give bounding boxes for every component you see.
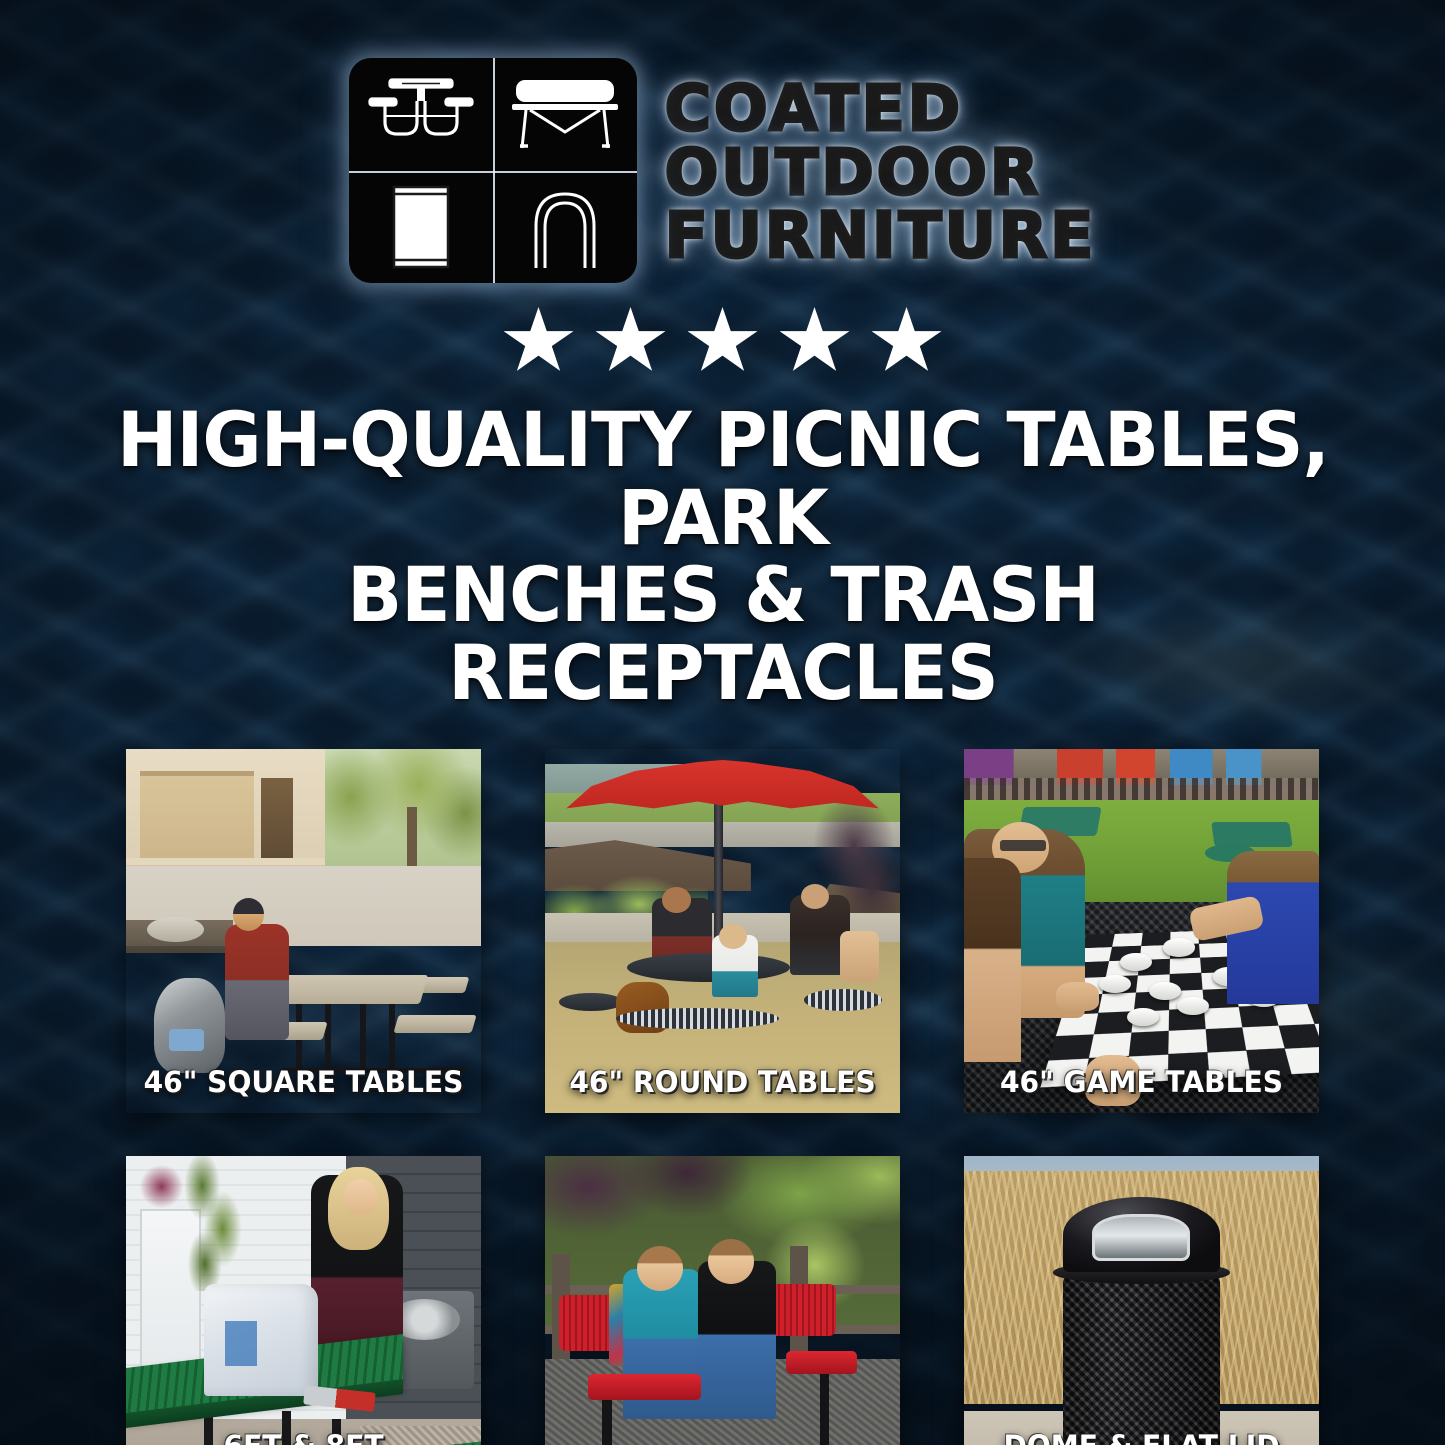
product-tile-square-tables[interactable]: 46" SQUARE TABLES [126, 749, 481, 1113]
trash-receptacle-icon [349, 171, 493, 284]
product-tile-trash-receptacles[interactable]: DOME & FLAT LID TRASH RECEPTACLES [964, 1156, 1319, 1445]
caption-line: DOME & FLAT LID [977, 1431, 1306, 1445]
park-bench-icon [493, 58, 637, 171]
product-tile-benches[interactable]: 6FT & 8FT BENCHES [545, 1156, 900, 1445]
product-photo-trash-receptacles [964, 1156, 1319, 1445]
star-icon [872, 307, 942, 375]
star-icon [504, 307, 574, 375]
product-caption-rectangular-tables: 6FT & 8FT RECTANGULAR TABLES [131, 1431, 475, 1445]
caption-line: 46" GAME TABLES [977, 1067, 1306, 1097]
star-icon [780, 307, 850, 375]
brand-wordmark: COATED OUTDOOR FURNITURE [665, 74, 1097, 267]
headline-line-1: HIGH-QUALITY PICNIC TABLES, PARK [110, 401, 1336, 556]
product-photo-round-tables [545, 749, 900, 1113]
picnic-table-icon [349, 58, 493, 171]
brand-lockup: COATED OUTDOOR FURNITURE [349, 58, 1097, 283]
poster-content: COATED OUTDOOR FURNITURE HIGH-QUALITY PI… [0, 0, 1445, 1445]
bike-rack-icon [493, 171, 637, 284]
product-photo-benches [545, 1156, 900, 1445]
product-tile-game-tables[interactable]: 46" GAME TABLES [964, 749, 1319, 1113]
product-photo-rectangular-tables [126, 1156, 481, 1445]
product-caption-square-tables: 46" SQUARE TABLES [131, 1067, 475, 1097]
headline-line-2: BENCHES & TRASH RECEPTACLES [110, 556, 1336, 711]
product-grid: 46" SQUARE TABLES [125, 749, 1321, 1445]
poster-canvas: COATED OUTDOOR FURNITURE HIGH-QUALITY PI… [0, 0, 1445, 1445]
product-photo-square-tables [126, 749, 481, 1113]
headline: HIGH-QUALITY PICNIC TABLES, PARK BENCHES… [110, 401, 1336, 711]
product-tile-round-tables[interactable]: 46" ROUND TABLES [545, 749, 900, 1113]
product-caption-trash-receptacles: DOME & FLAT LID TRASH RECEPTACLES [969, 1431, 1313, 1445]
caption-line: 6FT & 8FT [139, 1431, 468, 1445]
product-caption-round-tables: 46" ROUND TABLES [550, 1067, 894, 1097]
brand-word-2: OUTDOOR [665, 142, 1042, 204]
star-rating [504, 307, 942, 375]
product-tile-rectangular-tables[interactable]: 6FT & 8FT RECTANGULAR TABLES [126, 1156, 481, 1445]
product-photo-game-tables [964, 749, 1319, 1113]
brand-word-3: FURNITURE [665, 205, 1097, 267]
product-caption-game-tables: 46" GAME TABLES [969, 1067, 1313, 1097]
star-icon [688, 307, 758, 375]
brand-logo-mark [349, 58, 637, 283]
star-icon [596, 307, 666, 375]
brand-word-1: COATED [665, 78, 963, 140]
caption-line: 46" ROUND TABLES [558, 1067, 887, 1097]
caption-line: 46" SQUARE TABLES [139, 1067, 468, 1097]
